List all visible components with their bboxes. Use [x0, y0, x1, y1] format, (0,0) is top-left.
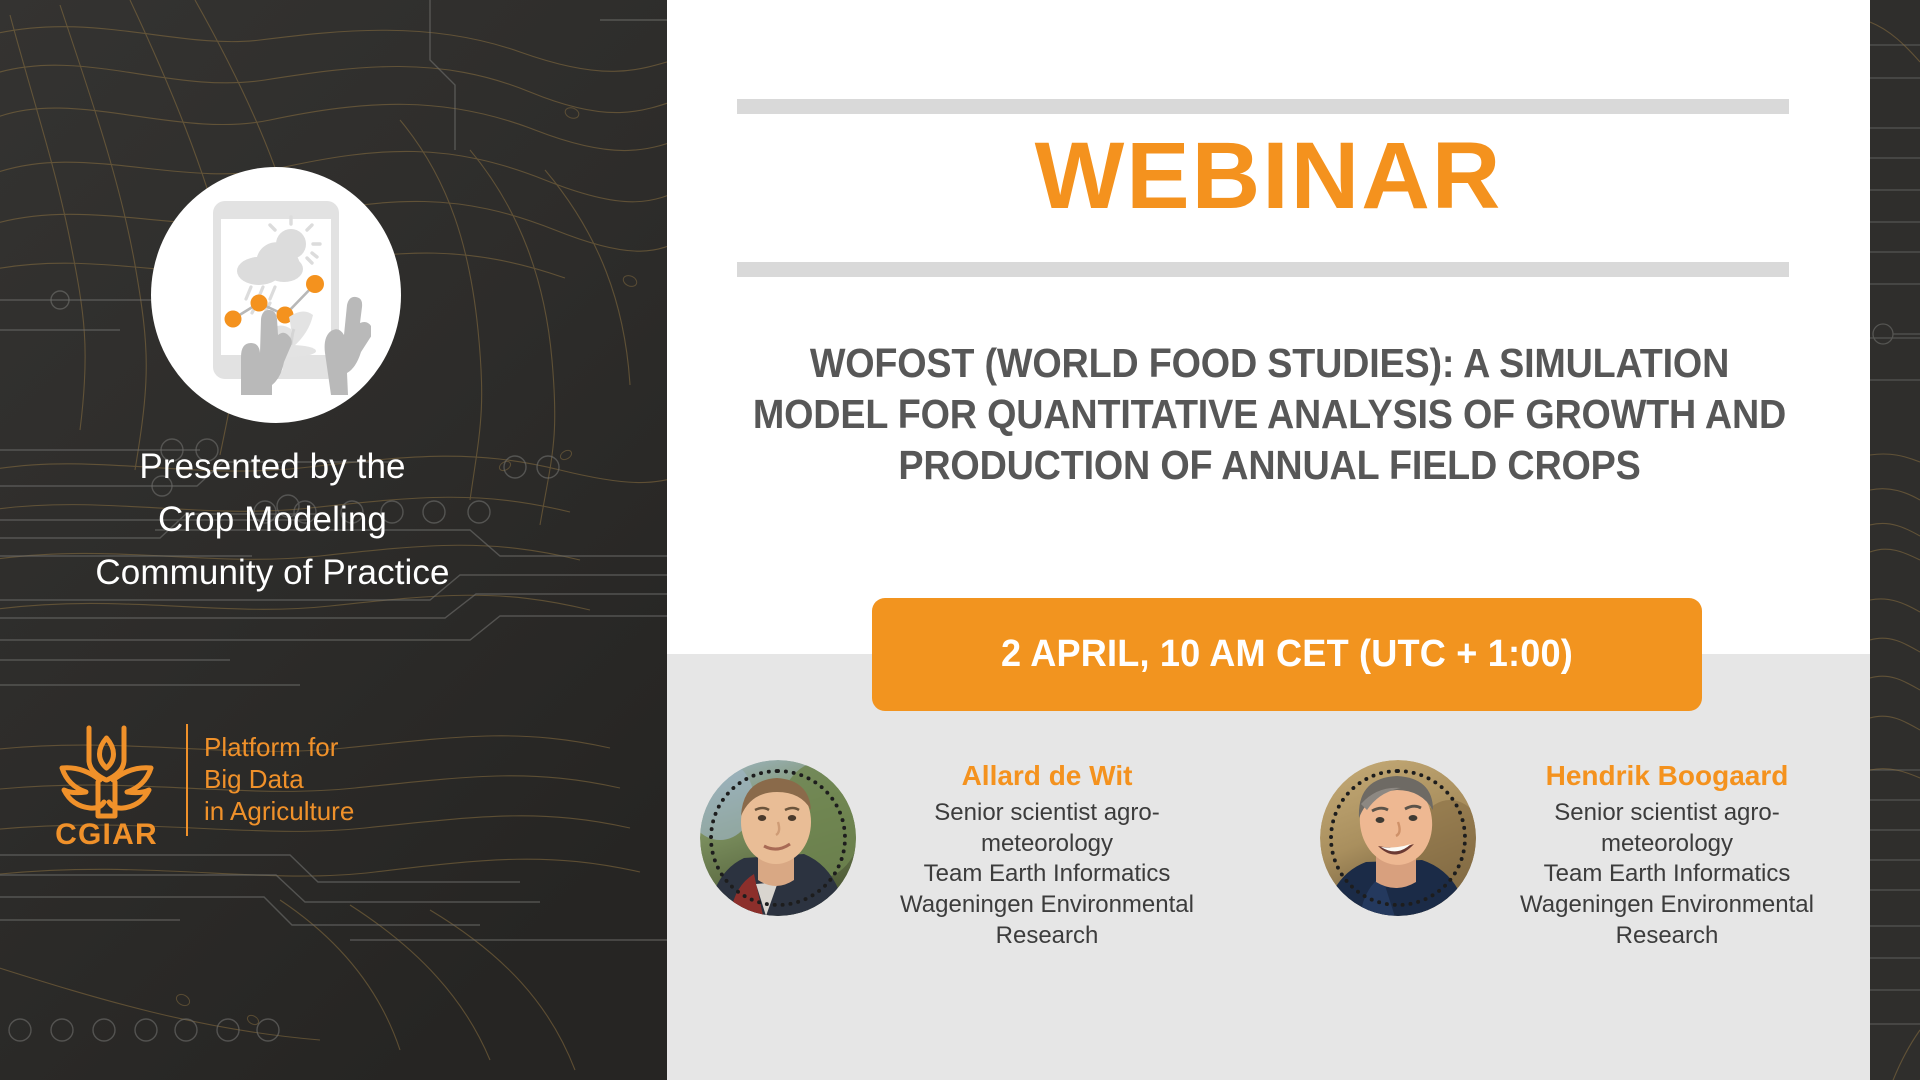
cgiar-wheat-wings-icon: [44, 720, 169, 824]
avatar: [1320, 760, 1476, 916]
speaker-info: Hendrik Boogaard Senior scientist agro- …: [1476, 750, 1840, 952]
speaker-photo-allard-de-wit: [700, 760, 856, 916]
speakers-row: Allard de Wit Senior scientist agro- met…: [700, 750, 1840, 1010]
speaker-card: Hendrik Boogaard Senior scientist agro- …: [1320, 750, 1840, 1010]
date-banner-text: 2 APRIL, 10 AM CET (UTC + 1:00): [1001, 633, 1573, 676]
cgiar-logo: CGIAR Platform for Big Data in Agricultu…: [44, 720, 384, 850]
avatar: [700, 760, 856, 916]
logo-divider: [186, 724, 188, 836]
right-strip-texture: [1870, 0, 1920, 1080]
cgiar-wordmark: CGIAR: [44, 818, 169, 852]
divider-rule-bottom: [737, 262, 1789, 277]
speaker-name: Allard de Wit: [874, 758, 1220, 793]
webinar-slide: Presented by the Crop Modeling Community…: [0, 0, 1920, 1080]
speaker-info: Allard de Wit Senior scientist agro- met…: [856, 750, 1220, 952]
tablet-badge: [151, 167, 401, 423]
speaker-photo-hendrik-boogaard: [1320, 760, 1476, 916]
presented-by-text: Presented by the Crop Modeling Community…: [0, 440, 545, 600]
speaker-card: Allard de Wit Senior scientist agro- met…: [700, 750, 1220, 1010]
platform-tagline: Platform for Big Data in Agriculture: [204, 732, 354, 828]
right-dark-strip: [1870, 0, 1920, 1080]
talk-title: WOFOST (WORLD FOOD STUDIES): A SIMULATIO…: [743, 338, 1796, 490]
tablet-agriculture-icon: [181, 195, 371, 395]
speaker-role: Senior scientist agro- meteorology Team …: [874, 798, 1220, 952]
speaker-name: Hendrik Boogaard: [1494, 758, 1840, 793]
divider-rule-top: [737, 99, 1789, 114]
speaker-role: Senior scientist agro- meteorology Team …: [1494, 798, 1840, 952]
cgiar-mark: CGIAR: [44, 720, 169, 850]
left-dark-panel: Presented by the Crop Modeling Community…: [0, 0, 667, 1080]
date-banner: 2 APRIL, 10 AM CET (UTC + 1:00): [872, 598, 1702, 711]
webinar-heading: WEBINAR: [667, 129, 1870, 224]
